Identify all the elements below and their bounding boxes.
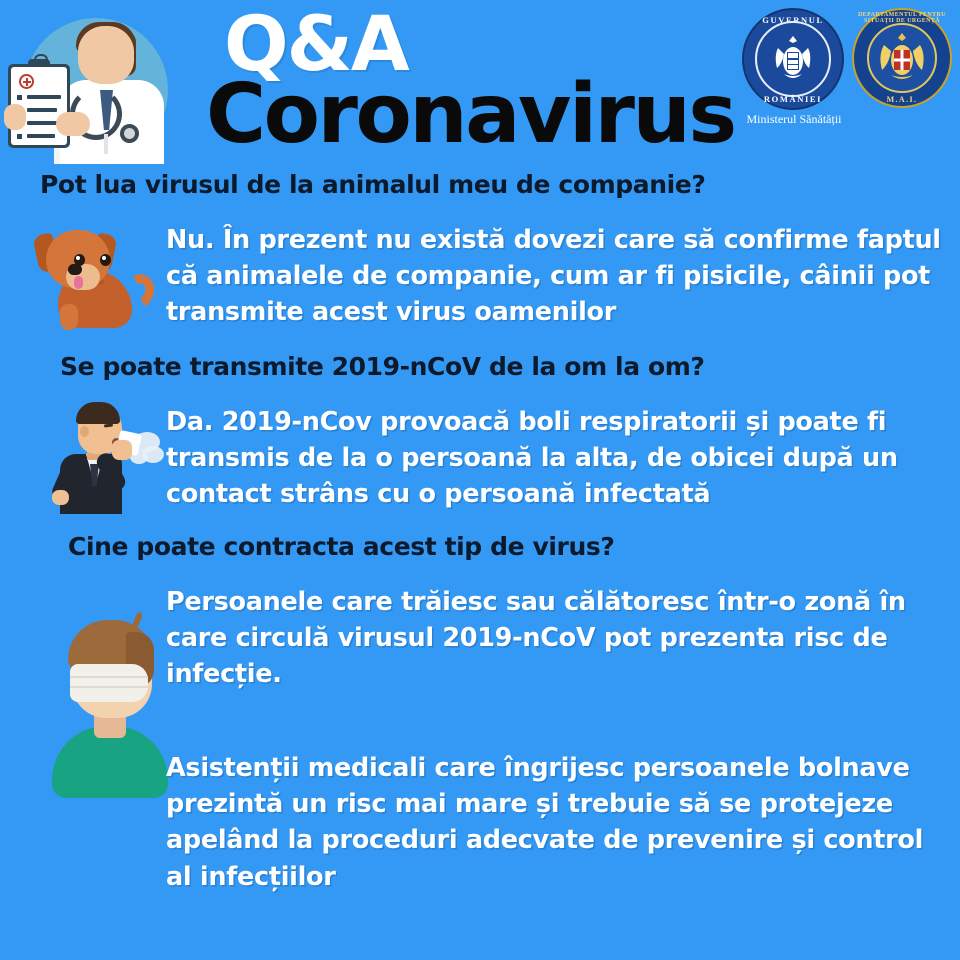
stethoscope-chestpiece-icon [120, 124, 139, 143]
face-mask-icon [70, 664, 148, 702]
logo-group: GUVERNUL ROMÂNIEI Ministerul Sănătății [734, 6, 952, 138]
dog-eye-right [100, 254, 111, 266]
page-title-coronavirus: Coronavirus [206, 76, 735, 154]
list-line [27, 95, 61, 99]
answer-3-part-2: Asistenții medicali care îngrijesc perso… [166, 750, 956, 895]
mask-fold [70, 676, 148, 678]
masked-person-icon [42, 608, 182, 798]
pen-icon [104, 134, 108, 154]
list-line [27, 108, 57, 112]
man-right-hand [112, 440, 132, 460]
dog-front-leg [60, 304, 78, 330]
question-3: Cine poate contracta acest tip de virus? [68, 532, 614, 561]
list-line [27, 134, 55, 138]
infographic-page: Q&A Coronavirus GUVERNUL R [0, 0, 960, 960]
man-ear [80, 426, 89, 437]
dsu-eagle-icon [875, 30, 929, 86]
romania-government-logo: GUVERNUL ROMÂNIEI [742, 8, 844, 110]
man-left-hand [52, 490, 69, 505]
coughing-man-icon [46, 396, 172, 514]
question-2: Se poate transmite 2019-nCoV de la om la… [60, 352, 705, 381]
question-1: Pot lua virusul de la animalul meu de co… [40, 170, 705, 199]
dog-nose [68, 264, 82, 275]
doctor-left-hand [4, 104, 26, 130]
ministry-caption: Ministerul Sănătății [734, 112, 854, 127]
dog-icon [28, 222, 160, 336]
header: Q&A Coronavirus GUVERNUL R [0, 0, 960, 168]
doctor-head [78, 26, 134, 84]
checkbox-icon [17, 95, 22, 100]
mask-fold [70, 686, 148, 688]
man-hair [76, 402, 120, 424]
answer-1: Nu. În prezent nu există dovezi care să … [166, 222, 956, 331]
dog-tongue [74, 276, 83, 289]
dsu-mai-logo: DEPARTAMENTUL PENTRU SITUAȚII DE URGENȚĂ… [852, 8, 952, 108]
doctor-right-hand [56, 112, 90, 136]
gov-logo-text-bottom: ROMÂNIEI [742, 94, 844, 104]
answer-2: Da. 2019-nCov provoacă boli respiratorii… [166, 404, 946, 513]
romania-coat-of-arms-icon [770, 34, 816, 84]
dsu-logo-text-bottom: M.A.I. [852, 95, 952, 104]
dog-head [46, 230, 110, 288]
checkbox-icon [17, 134, 22, 139]
medical-cross-icon [19, 74, 34, 89]
doctor-with-clipboard-icon [8, 12, 170, 168]
answer-3: Persoanele care trăiesc sau călătoresc î… [166, 584, 946, 693]
